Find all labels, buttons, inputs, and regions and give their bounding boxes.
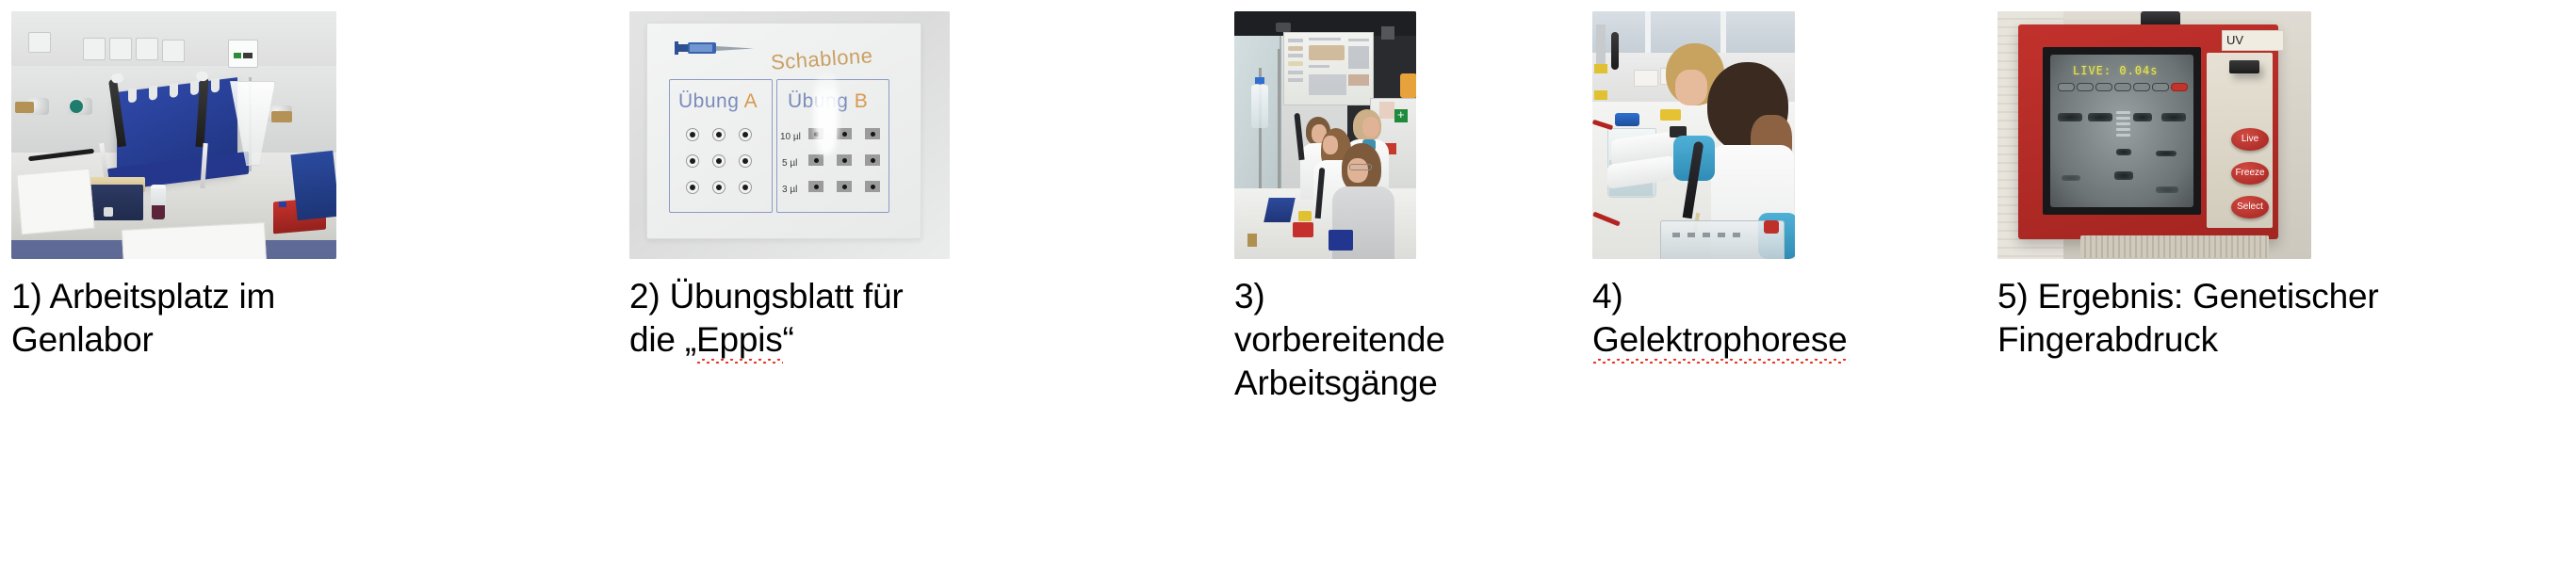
figure-2-misspelled-word: Eppis xyxy=(696,318,783,362)
glasses xyxy=(1349,164,1372,170)
ladder-band xyxy=(2116,134,2130,137)
face xyxy=(1362,117,1379,137)
screen-live-readout: LIVE: 0.04s xyxy=(2073,64,2158,77)
ladder-band xyxy=(2116,122,2130,125)
power-switch[interactable] xyxy=(2229,60,2259,73)
sample-dot xyxy=(686,181,699,194)
red-sample-box xyxy=(1293,222,1313,237)
wall-note xyxy=(1379,102,1394,119)
sample-square xyxy=(865,154,880,166)
tablet-stand xyxy=(1264,198,1296,222)
sample-dot xyxy=(712,154,726,168)
projection-screen xyxy=(1283,32,1374,105)
photo-practice-sheet: Schablone Übung A Übung B 10 µl 5 µl 3 µ… xyxy=(629,11,950,259)
sample-square xyxy=(808,181,823,192)
gel-well xyxy=(2114,83,2131,91)
exercise-a-label: Übung A xyxy=(678,90,758,113)
sample-dot xyxy=(686,154,699,168)
exercise-a-letter: A xyxy=(744,90,758,112)
dna-band xyxy=(2133,113,2152,121)
tube-in-rack xyxy=(279,202,286,207)
live-button[interactable]: Live xyxy=(2231,128,2269,151)
photo-genetic-fingerprint: LIVE: 0.04s xyxy=(1997,11,2311,259)
gel-well xyxy=(2133,83,2150,91)
protocol-sheet xyxy=(122,222,267,259)
photo-gel-electrophoresis xyxy=(1592,11,1795,259)
select-button[interactable]: Select xyxy=(2231,196,2269,218)
pipette-on-stand xyxy=(1611,32,1619,70)
yellow-tube-cap xyxy=(1298,211,1312,221)
figure-3-caption: 3) vorbereitende Arbeitsgänge xyxy=(1234,275,1470,405)
glass-bottle xyxy=(1251,85,1268,128)
wall-socket xyxy=(136,38,158,60)
stand-rod xyxy=(1278,49,1280,190)
chamber-red-terminal xyxy=(1764,220,1779,234)
figure-2-caption-suffix: “ xyxy=(783,320,794,359)
sample-square xyxy=(865,181,880,192)
yellow-rack xyxy=(1660,109,1681,121)
cork-stopper xyxy=(1247,234,1257,247)
panel-indicator xyxy=(243,53,253,58)
yellow-tip-box xyxy=(1594,90,1607,100)
ceiling-mount xyxy=(1276,23,1291,32)
ladder-band xyxy=(2116,128,2130,131)
face xyxy=(1323,136,1338,154)
figure-2-caption: 2) Übungsblatt für die „Eppis“ xyxy=(629,275,951,362)
glare-reflection xyxy=(814,70,839,154)
gas-nozzle xyxy=(15,102,34,113)
ice-box-latch xyxy=(104,207,113,217)
dna-band xyxy=(2161,113,2186,121)
figure-1: 1) Arbeitsplatz im Genlabor xyxy=(11,0,337,582)
ladder-band xyxy=(2116,111,2130,114)
gel-well xyxy=(2152,83,2169,91)
gel-well xyxy=(2077,83,2094,91)
sample-dot xyxy=(712,128,726,141)
figure-4-caption: 4) Gelektrophorese xyxy=(1592,275,1848,362)
gel-well-loaded xyxy=(2171,83,2188,91)
gel-well xyxy=(2058,83,2075,91)
panel-indicator xyxy=(234,53,241,58)
blue-sample-box xyxy=(1329,230,1353,251)
dna-band xyxy=(2116,149,2131,155)
wall-socket xyxy=(83,38,106,60)
sample-dot xyxy=(686,128,699,141)
figure-1-caption: 1) Arbeitsplatz im Genlabor xyxy=(11,275,337,362)
gel-well-row xyxy=(2058,83,2190,90)
sample-square xyxy=(837,128,852,139)
figure-4: 4) Gelektrophorese xyxy=(1592,0,1837,582)
figure-5-caption: 5) Ergebnis: Genetischer Fingerabdruck xyxy=(1997,275,2378,362)
vial-contents xyxy=(152,205,165,219)
uv-label: UV xyxy=(2222,30,2284,51)
bottle-cap xyxy=(1255,77,1264,84)
monitor-screen: LIVE: 0.04s xyxy=(2050,55,2193,207)
wall-socket xyxy=(109,38,132,60)
pipette-icon xyxy=(675,40,756,57)
ladder-band xyxy=(2116,117,2130,120)
wall-speaker xyxy=(1381,26,1394,40)
gas-tap-handle xyxy=(70,100,83,113)
sample-dot xyxy=(739,181,752,194)
gel-well xyxy=(2095,83,2112,91)
dna-band xyxy=(2156,151,2177,156)
face xyxy=(1347,158,1368,183)
volume-label-3ul: 3 µl xyxy=(782,185,797,195)
dna-band xyxy=(2156,186,2178,193)
wall-socket xyxy=(162,40,185,62)
dna-band xyxy=(2114,171,2133,180)
figure-4-misspelled-word: Gelektrophorese xyxy=(1592,318,1848,362)
gas-nozzle xyxy=(271,111,292,122)
dna-band xyxy=(2058,113,2082,121)
sample-dot xyxy=(739,154,752,168)
sample-plate xyxy=(1634,70,1658,87)
volume-label-10ul: 10 µl xyxy=(780,132,801,142)
figure-2: Schablone Übung A Übung B 10 µl 5 µl 3 µ… xyxy=(629,0,951,582)
dna-band xyxy=(2088,113,2112,121)
dna-band xyxy=(2062,175,2080,181)
yellow-container xyxy=(1400,73,1416,98)
volume-label-5ul: 5 µl xyxy=(782,158,797,169)
base-vent-grill xyxy=(2080,235,2269,258)
figure-4-caption-prefix: 4) xyxy=(1592,277,1623,315)
sample-dot xyxy=(739,128,752,141)
figure-5: LIVE: 0.04s xyxy=(1997,0,2563,582)
stand-rod xyxy=(1596,24,1606,66)
photo-preparation-steps xyxy=(1234,11,1416,259)
bottle-blue-cap xyxy=(1615,113,1639,126)
face xyxy=(1675,70,1707,105)
freeze-button[interactable]: Freeze xyxy=(2231,162,2269,185)
photo-lab-workstation xyxy=(11,11,336,259)
figure-strip: 1) Arbeitsplatz im Genlabor Schablone Üb… xyxy=(0,0,2576,582)
exercise-a-label-text: Übung xyxy=(678,90,739,112)
first-aid-sign xyxy=(1394,109,1408,122)
exercise-b-letter: B xyxy=(855,90,869,112)
yellow-tip-box xyxy=(1594,64,1607,73)
sample-square xyxy=(837,181,852,192)
wall-socket xyxy=(28,32,51,53)
figure-3: 3) vorbereitende Arbeitsgänge xyxy=(1234,0,1470,582)
sample-square xyxy=(865,128,880,139)
worksheet-sheet xyxy=(16,169,94,235)
pipette-plunger xyxy=(196,72,209,82)
lab-notebook xyxy=(290,151,336,220)
sample-square xyxy=(837,154,852,166)
sample-dot xyxy=(712,181,726,194)
sample-square xyxy=(808,154,823,166)
